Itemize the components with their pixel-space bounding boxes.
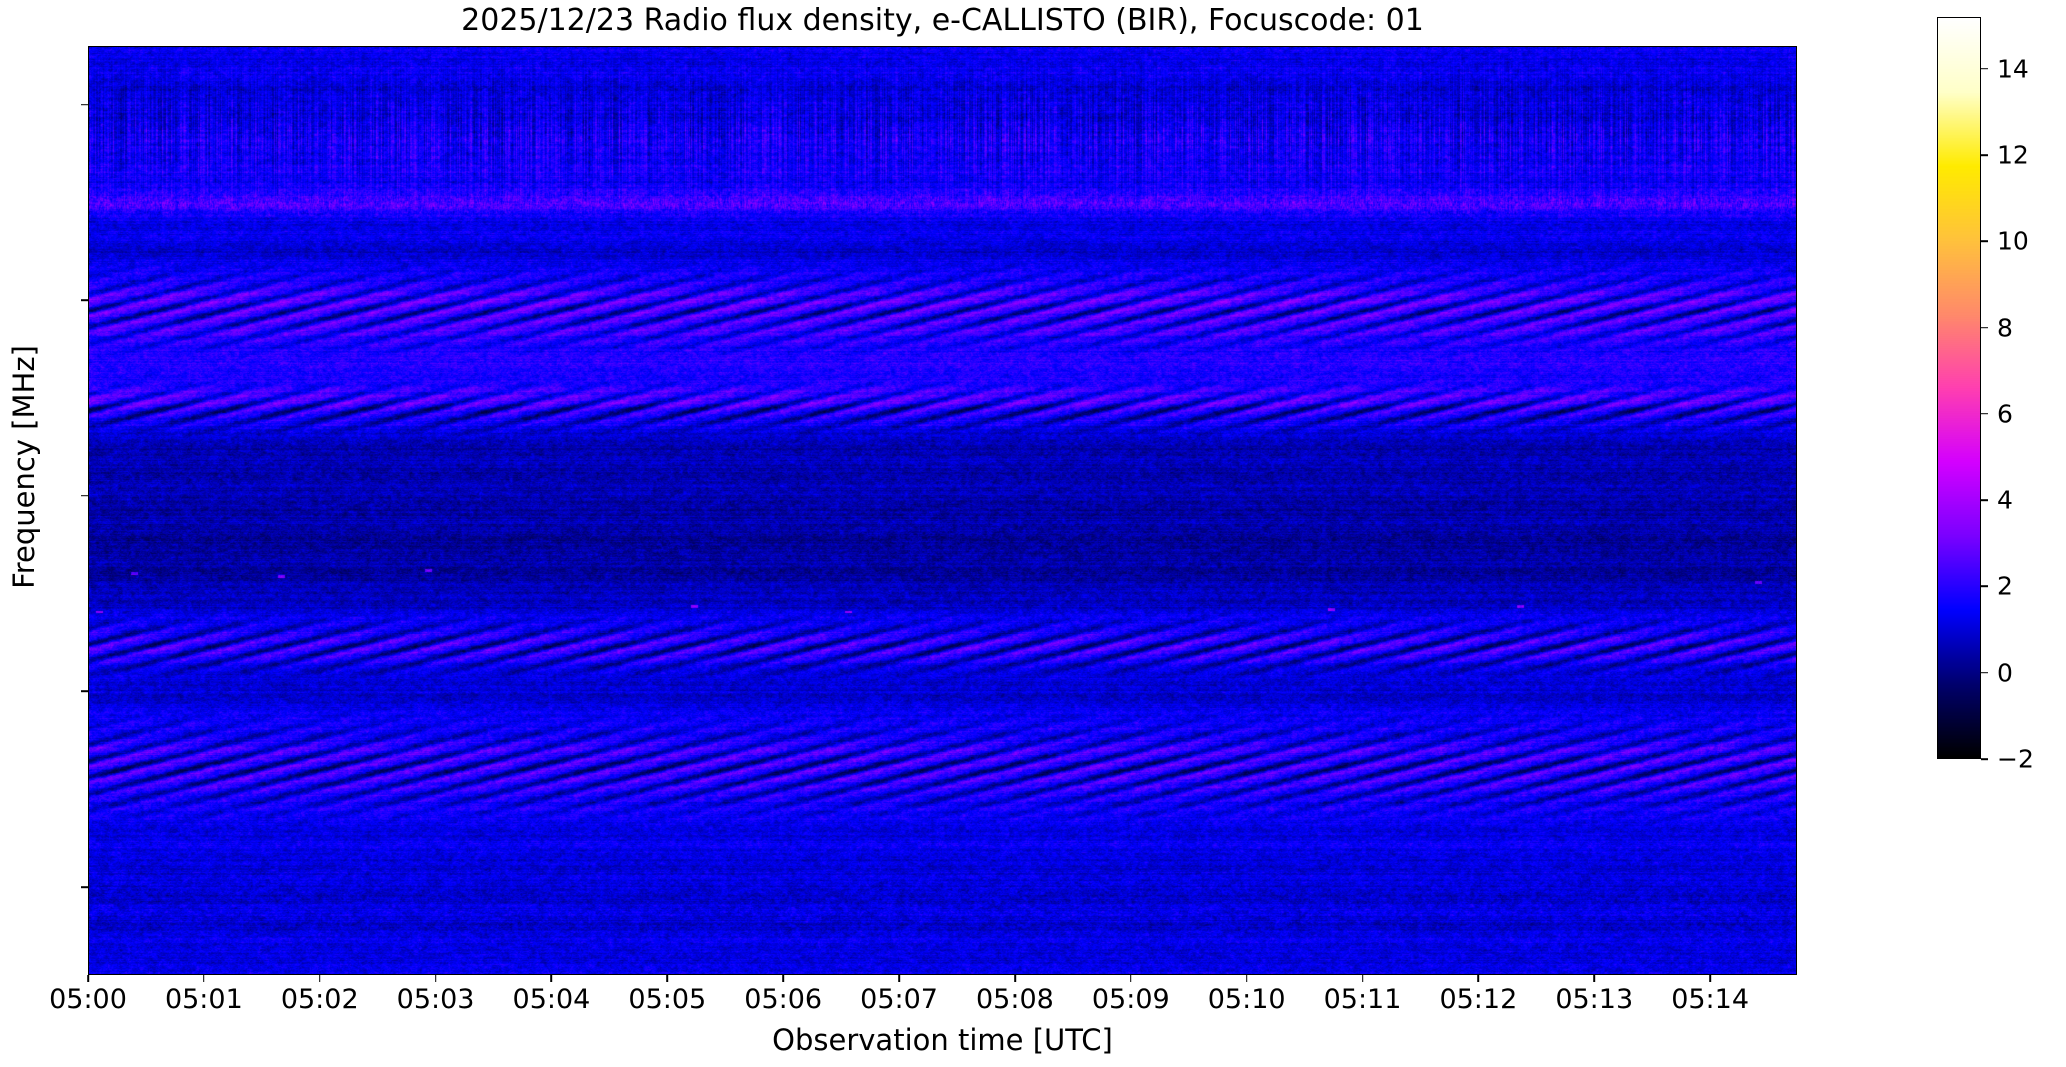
x-tick-mark <box>203 975 205 982</box>
x-tick-mark <box>319 975 321 982</box>
x-tick-mark <box>782 975 784 982</box>
colorbar-tick-mark <box>1981 68 1988 70</box>
y-tick-mark <box>81 495 88 497</box>
colorbar-tick-mark <box>1981 241 1988 243</box>
x-tick-mark <box>1709 975 1711 982</box>
x-tick-mark <box>898 975 900 982</box>
x-tick-label: 05:00 <box>49 984 127 1015</box>
colorbar-tick-mark <box>1981 413 1988 415</box>
colorbar-tick-mark <box>1981 154 1988 156</box>
colorbar-tick-label: 6 <box>1997 399 2013 428</box>
x-axis-label: Observation time [UTC] <box>88 1023 1797 1057</box>
colorbar-tick-label: 2 <box>1997 572 2013 601</box>
spectrogram-image <box>89 47 1796 974</box>
x-tick-label: 05:02 <box>281 984 359 1015</box>
x-tick-label: 05:01 <box>165 984 243 1015</box>
x-tick-label: 05:08 <box>976 984 1054 1015</box>
colorbar-tick-label: 14 <box>1997 54 2029 83</box>
x-tick-label: 05:09 <box>1092 984 1170 1015</box>
x-tick-label: 05:13 <box>1555 984 1633 1015</box>
y-axis-label: Frequency [MHz] <box>7 237 41 697</box>
colorbar[interactable] <box>1937 17 1981 759</box>
x-tick-label: 05:04 <box>513 984 591 1015</box>
x-tick-label: 05:03 <box>397 984 475 1015</box>
x-tick-label: 05:06 <box>744 984 822 1015</box>
x-tick-mark <box>551 975 553 982</box>
x-tick-label: 05:07 <box>860 984 938 1015</box>
x-tick-label: 05:10 <box>1208 984 1286 1015</box>
x-tick-mark <box>1478 975 1480 982</box>
y-tick-mark <box>81 886 88 888</box>
x-tick-label: 05:05 <box>628 984 706 1015</box>
page-title: 2025/12/23 Radio flux density, e-CALLIST… <box>88 3 1797 38</box>
x-tick-mark <box>435 975 437 982</box>
x-tick-label: 05:14 <box>1671 984 1749 1015</box>
y-tick-mark <box>81 299 88 301</box>
y-tick-mark <box>81 691 88 693</box>
figure-canvas: 2025/12/23 Radio flux density, e-CALLIST… <box>0 0 2066 1067</box>
colorbar-tick-mark <box>1981 499 1988 501</box>
colorbar-tick-label: −2 <box>1997 745 2034 774</box>
colorbar-tick-mark <box>1981 672 1988 674</box>
colorbar-tick-label: 4 <box>1997 486 2013 515</box>
x-tick-mark <box>1014 975 1016 982</box>
colorbar-tick-label: 10 <box>1997 227 2029 256</box>
colorbar-tick-label: 12 <box>1997 141 2029 170</box>
x-tick-mark <box>667 975 669 982</box>
y-tick-mark <box>81 104 88 106</box>
x-tick-mark <box>87 975 89 982</box>
x-tick-label: 05:12 <box>1439 984 1517 1015</box>
spectrogram-plot-area[interactable] <box>88 46 1797 975</box>
colorbar-tick-label: 0 <box>1997 658 2013 687</box>
x-tick-mark <box>1130 975 1132 982</box>
x-tick-mark <box>1362 975 1364 982</box>
colorbar-tick-mark <box>1981 758 1988 760</box>
colorbar-tick-label: 8 <box>1997 313 2013 342</box>
colorbar-tick-mark <box>1981 327 1988 329</box>
x-tick-label: 05:11 <box>1324 984 1402 1015</box>
colorbar-gradient <box>1938 18 1980 758</box>
colorbar-tick-mark <box>1981 586 1988 588</box>
x-tick-mark <box>1593 975 1595 982</box>
x-tick-mark <box>1246 975 1248 982</box>
